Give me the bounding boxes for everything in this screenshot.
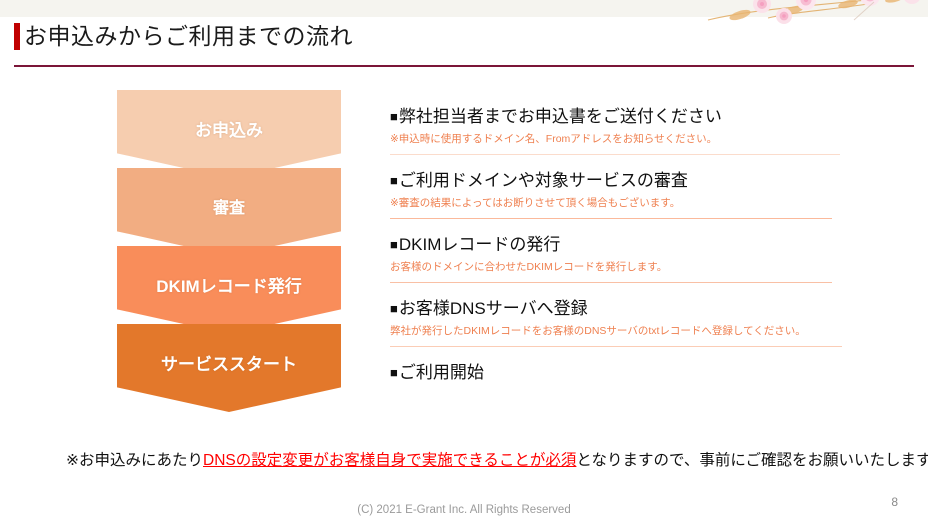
step-divider-4 [390,346,842,347]
step-detail-3-heading: ■DKIMレコードの発行 [390,232,850,258]
step-detail-2-sub: ※審査の結果によってはお断りさせて頂く場合もございます。 [390,194,850,212]
step-detail-5: ■ご利用開始 [390,360,850,386]
square-bullet-icon: ■ [390,173,398,188]
step-divider-3 [390,282,832,283]
title-accent-bar [14,23,20,50]
page-title-row: お申込みからご利用までの流れ [0,20,928,54]
top-band [0,0,928,17]
step-detail-4: ■お客様DNSサーバへ登録 弊社が発行したDKIMレコードをお客様のDNSサーバ… [390,296,850,347]
flow-step-2-label: 審査 [213,194,245,218]
step-detail-1-sub: ※申込時に使用するドメイン名、Fromアドレスをお知らせください。 [390,130,850,148]
bottom-note-suffix: となりますので、事前にご確認をお願いいたします。 [576,452,928,469]
square-bullet-icon: ■ [390,365,398,380]
bottom-note: ※お申込みにあたりDNSの設定変更がお客様自身で実施できることが必須となりますの… [66,450,896,472]
step-detail-4-heading-text: お客様DNSサーバへ登録 [399,299,588,318]
flow-step-1-label: お申込み [195,116,263,141]
step-detail-4-heading: ■お客様DNSサーバへ登録 [390,296,850,322]
step-detail-3-sub: お客様のドメインに合わせたDKIMレコードを発行します。 [390,258,850,276]
footer-copyright: (C) 2021 E-Grant Inc. All Rights Reserve… [0,504,928,516]
step-detail-3: ■DKIMレコードの発行 お客様のドメインに合わせたDKIMレコードを発行します… [390,232,850,283]
process-flow-diagram: お申込み 審査 DKIMレコード発行 サービススタート [117,90,341,395]
step-detail-4-sub: 弊社が発行したDKIMレコードをお客様のDNSサーバのtxtレコードへ登録してく… [390,322,850,340]
step-detail-list: ■弊社担当者までお申込書をご送付ください ※申込時に使用するドメイン名、From… [390,104,850,386]
step-detail-1-heading-text: 弊社担当者までお申込書をご送付ください [399,107,722,126]
step-detail-3-heading-text: DKIMレコードの発行 [399,235,561,254]
step-divider-1 [390,154,840,155]
square-bullet-icon: ■ [390,301,398,316]
step-divider-2 [390,218,832,219]
bottom-note-emphasis: DNSの設定変更がお客様自身で実施できることが必須 [203,452,576,469]
flow-step-1: お申込み [117,90,341,178]
title-divider [14,65,914,67]
page-number: 8 [891,495,898,509]
flow-step-4: サービススタート [117,324,341,412]
flow-step-3-label: DKIMレコード発行 [156,272,301,297]
step-detail-1: ■弊社担当者までお申込書をご送付ください ※申込時に使用するドメイン名、From… [390,104,850,155]
step-detail-5-heading-text: ご利用開始 [399,363,484,382]
step-detail-5-heading: ■ご利用開始 [390,360,850,386]
flow-step-4-label: サービススタート [161,350,297,375]
flow-step-2: 審査 [117,168,341,256]
square-bullet-icon: ■ [390,109,398,124]
step-detail-2-heading: ■ご利用ドメインや対象サービスの審査 [390,168,850,194]
bottom-note-prefix: ※お申込みにあたり [66,452,203,469]
step-detail-1-heading: ■弊社担当者までお申込書をご送付ください [390,104,850,130]
page-title: お申込みからご利用までの流れ [24,20,353,52]
step-detail-2-heading-text: ご利用ドメインや対象サービスの審査 [399,171,688,190]
square-bullet-icon: ■ [390,237,398,252]
step-detail-2: ■ご利用ドメインや対象サービスの審査 ※審査の結果によってはお断りさせて頂く場合… [390,168,850,219]
flow-step-3: DKIMレコード発行 [117,246,341,334]
